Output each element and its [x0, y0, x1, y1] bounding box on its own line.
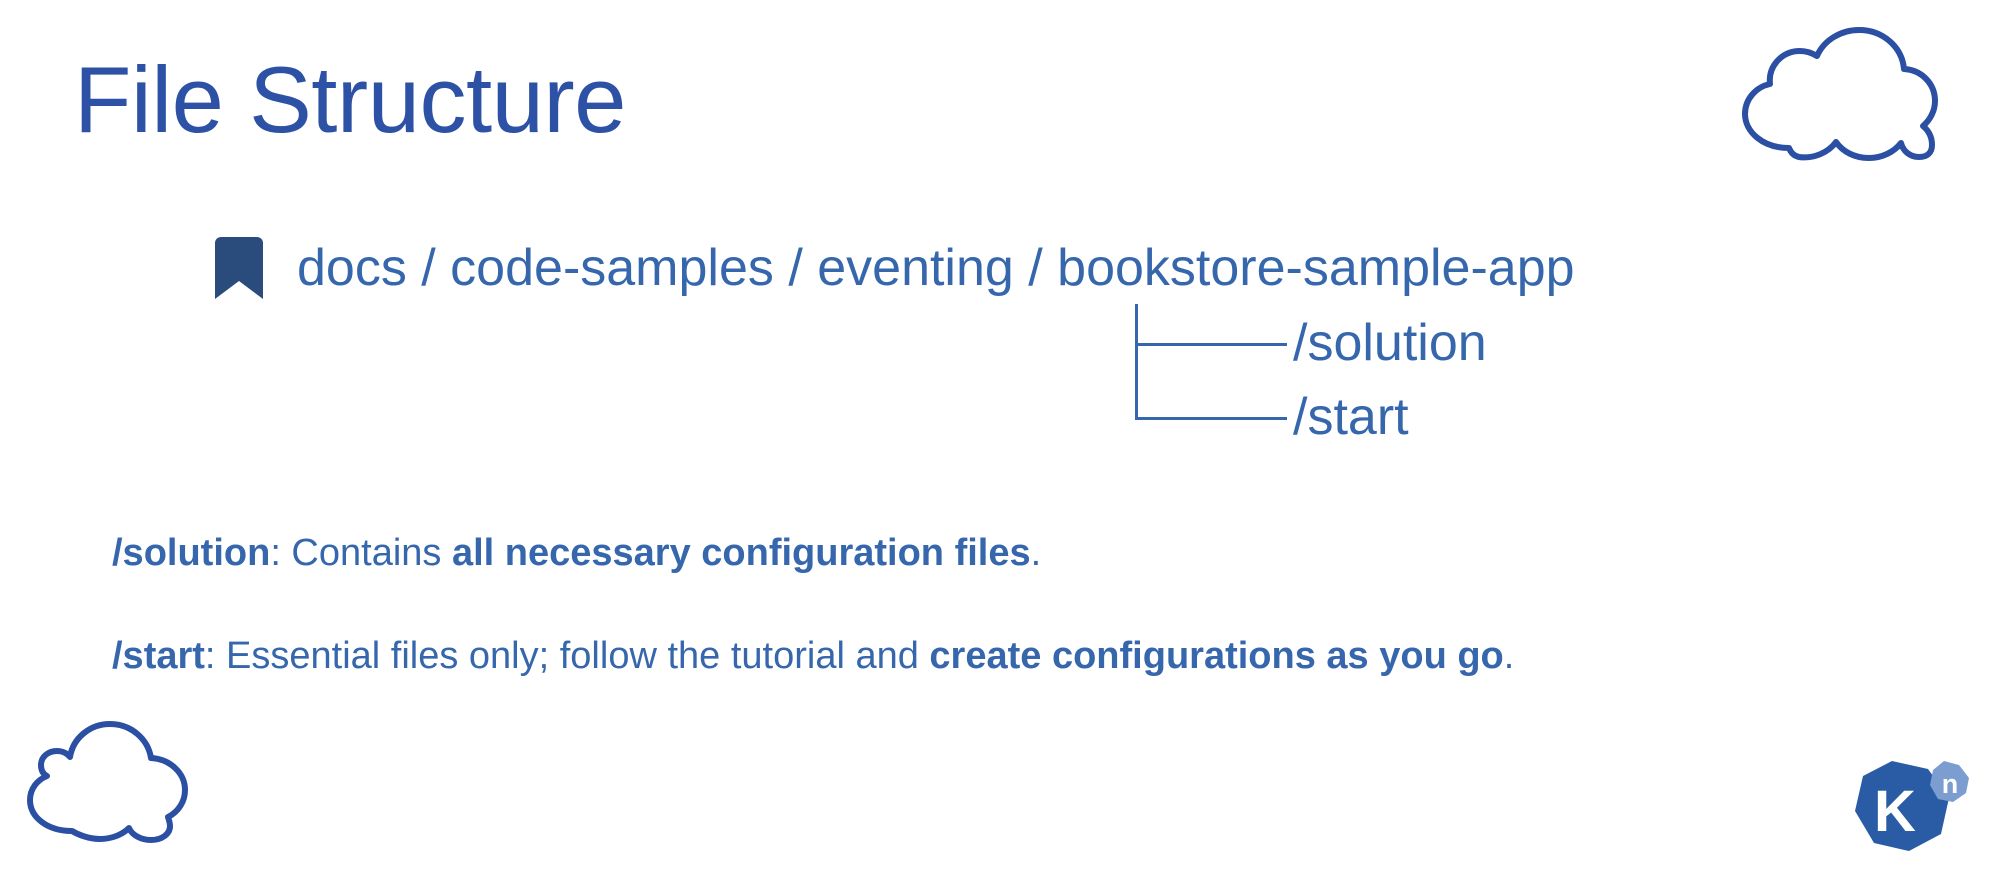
tree-connector-branch [1135, 304, 1287, 382]
solution-emphasis: all necessary configuration files [452, 532, 1031, 574]
file-tree: docs / code-samples / eventing / booksto… [215, 232, 1575, 452]
start-tail: . [1504, 635, 1515, 677]
breadcrumb: docs / code-samples / eventing / booksto… [297, 238, 1575, 298]
start-middle: : Essential files only; follow the tutor… [205, 635, 930, 677]
start-description: /start: Essential files only; follow the… [112, 632, 1514, 681]
tree-root-row: docs / code-samples / eventing / booksto… [215, 232, 1575, 304]
bookmark-icon [215, 237, 263, 299]
page-title: File Structure [74, 48, 626, 151]
knative-logo-letter-k: K [1874, 779, 1916, 844]
tree-child-row: /solution [1135, 304, 1575, 382]
cloud-icon [14, 718, 214, 843]
start-emphasis: create configurations as you go [929, 635, 1503, 677]
tree-child-label-solution: /solution [1293, 317, 1487, 369]
tree-child-row: /start [1135, 382, 1575, 452]
slide-canvas: File Structure docs / code-samples / eve… [0, 0, 1999, 877]
solution-lead: /solution [112, 532, 270, 574]
cloud-icon [1729, 26, 1947, 161]
start-lead: /start [112, 635, 205, 677]
tree-child-label-start: /start [1293, 391, 1409, 443]
knative-logo-letter-n: n [1942, 769, 1959, 799]
knative-logo: K n [1845, 755, 1973, 865]
solution-middle: : Contains [270, 532, 452, 574]
solution-tail: . [1031, 532, 1042, 574]
solution-description: /solution: Contains all necessary config… [112, 529, 1041, 578]
tree-connector-last [1135, 378, 1287, 456]
